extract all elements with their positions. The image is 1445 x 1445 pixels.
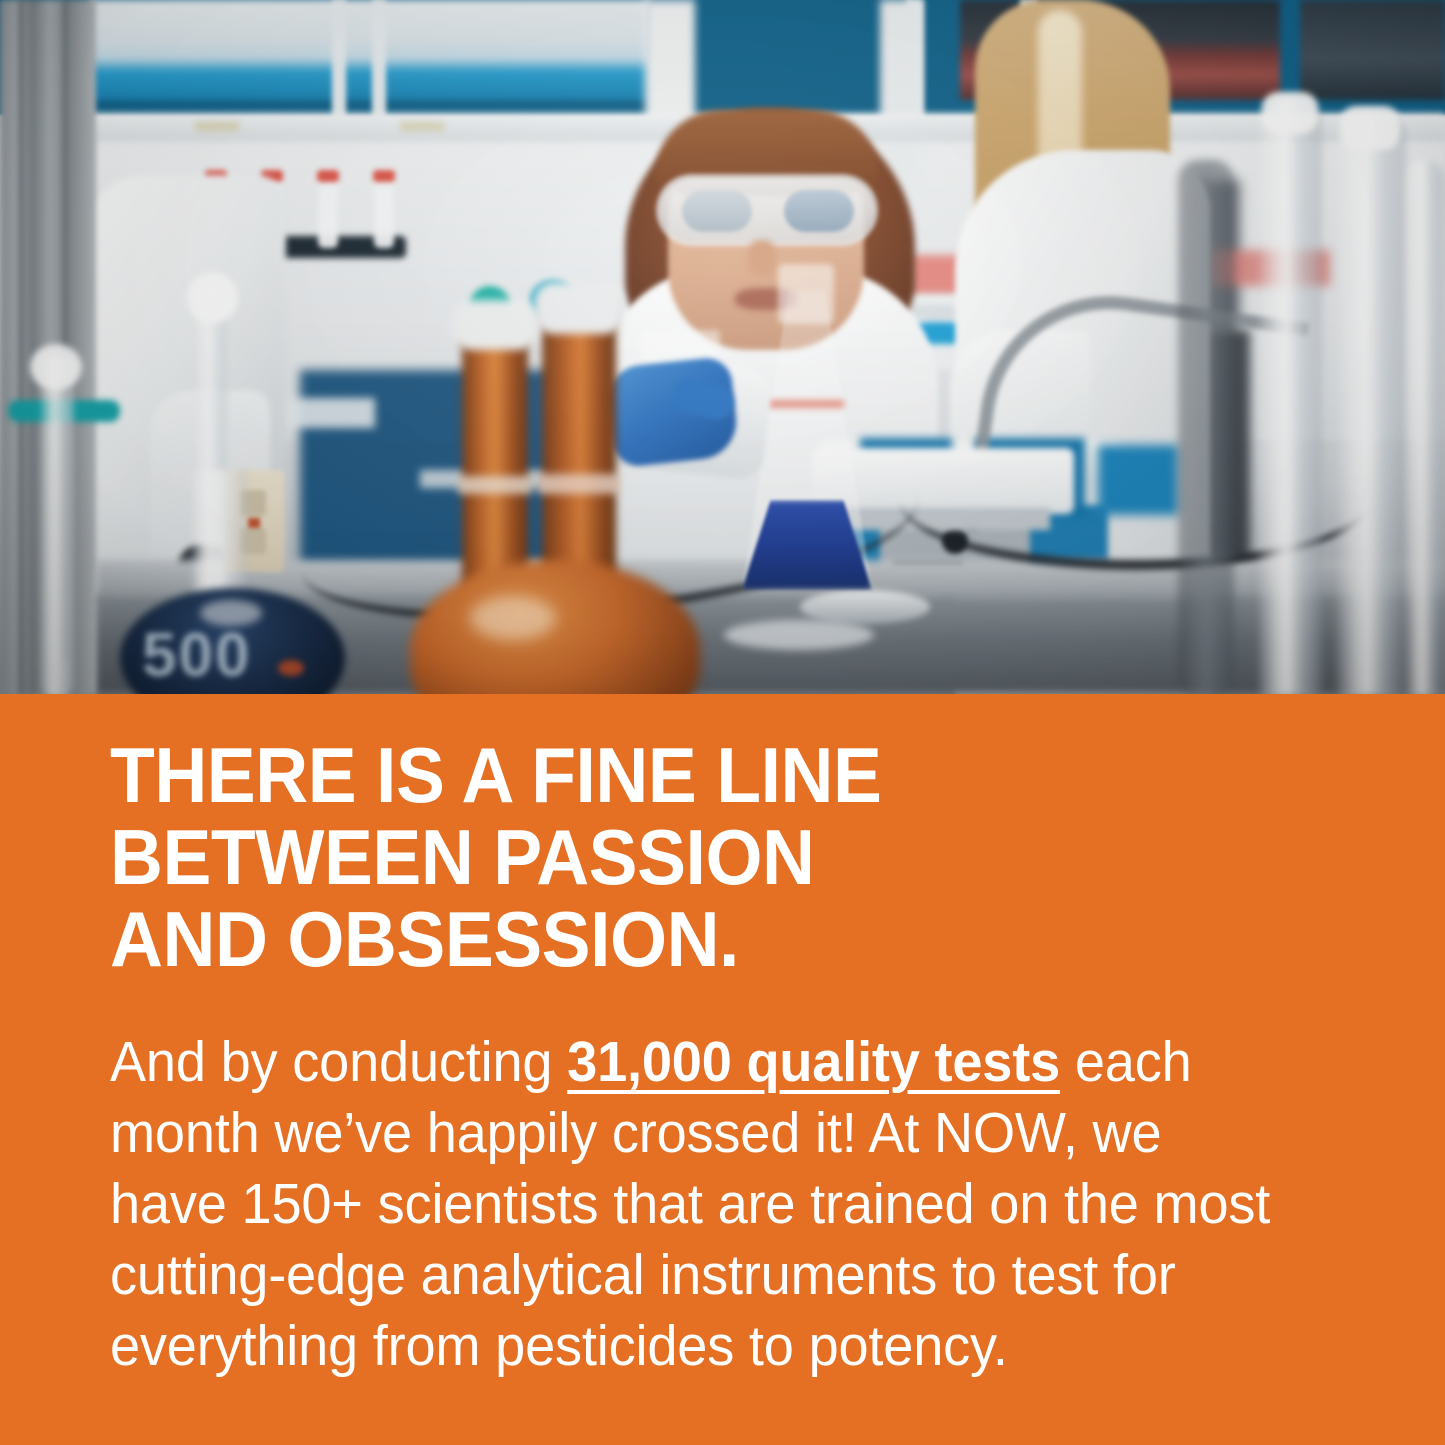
orange-message-panel: THERE IS A FINE LINE BETWEEN PASSION AND…: [0, 694, 1445, 1445]
body-copy-before: And by conducting: [110, 1030, 567, 1094]
pipette-bulb: [186, 272, 238, 324]
door-seam: [18, 0, 24, 694]
amber-flask-stopper: [534, 282, 624, 334]
center-scientist-nose: [748, 240, 776, 276]
gas-cylinder: [1404, 160, 1445, 694]
promo-card: 500 THERE IS A FINE LINE BETWEEN PASSION…: [0, 0, 1445, 1445]
cabinet-glass-far-right: [1300, 0, 1445, 100]
goggle-lens-left: [682, 190, 752, 232]
amber-flask-ring: [458, 476, 532, 494]
pipette-bulb: [30, 344, 82, 390]
amber-flask-highlight: [470, 596, 556, 640]
cabinet-lip-mark: [400, 122, 444, 131]
flask-500-label: 500: [142, 620, 322, 691]
lab-photo: 500: [0, 0, 1445, 694]
dark-cylinder: [1178, 160, 1234, 694]
headline: THERE IS A FINE LINE BETWEEN PASSION AND…: [110, 734, 1285, 980]
test-tube-cap: [373, 170, 395, 182]
watch-glass: [724, 620, 874, 650]
erlenmeyer-neck: [778, 264, 834, 324]
test-tube-cap: [317, 170, 339, 182]
amber-flask-ring: [538, 474, 620, 494]
goggle-lens-right: [784, 190, 854, 232]
gas-cylinder: [1258, 96, 1322, 694]
cylinder-cap: [1262, 92, 1318, 134]
gas-cylinder: [1336, 110, 1406, 694]
cabinet-glass-left: [90, 0, 650, 100]
body-copy: And by conducting 31,000 quality tests e…: [110, 1027, 1283, 1382]
erlenmeyer-label: [768, 400, 844, 408]
cabinet-handle: [372, 0, 386, 126]
petri-dish: [800, 590, 930, 624]
glass-pipette: [40, 356, 74, 694]
amber-flask-stopper: [452, 300, 538, 350]
quality-tests-highlight: 31,000 quality tests: [567, 1030, 1060, 1094]
cabinet-handle: [332, 0, 346, 126]
outlet-indicator: [248, 518, 260, 528]
cabinet-lip-mark: [195, 122, 239, 131]
cylinder-cap: [1340, 106, 1400, 150]
